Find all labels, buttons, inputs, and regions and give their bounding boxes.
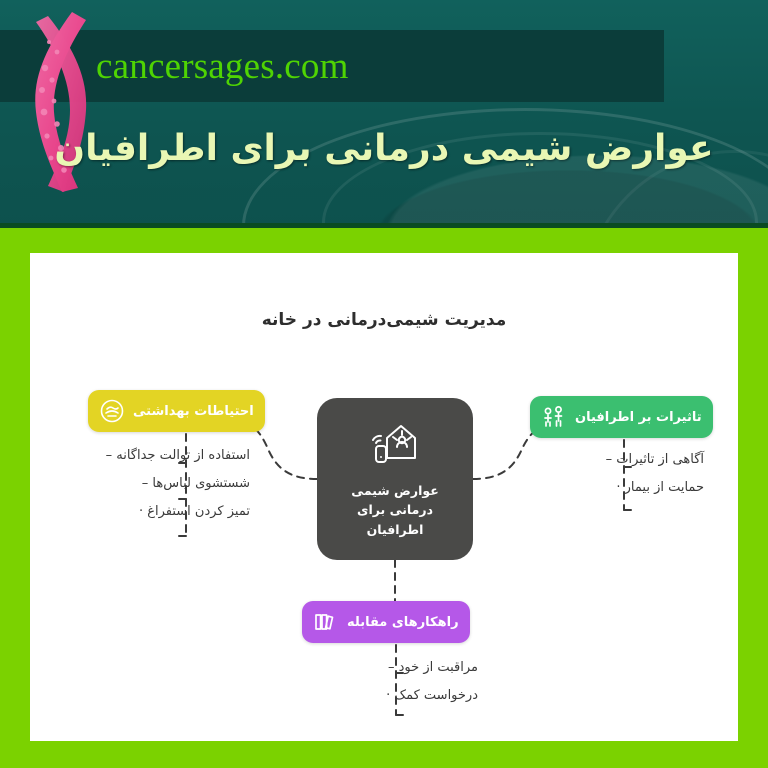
sublist-coping: مراقبت از خود – درخواست کمک · <box>298 661 478 717</box>
sublist-effects: آگاهی از تاثیرات – حمایت از بیمار · <box>524 453 704 509</box>
branch-label-hygiene: احتیاطات بهداشتی <box>133 404 254 419</box>
center-node-line-3: اطرافیان <box>351 520 438 539</box>
page-header: cancersages.com عوارض شیمی درمانی برا <box>0 0 768 228</box>
hygiene-wash-icon <box>99 398 125 424</box>
list-item: استفاده از توالت جداگانه – <box>54 449 250 462</box>
branch-label-effects: تاثیرات بر اطرافیان <box>575 410 702 425</box>
list-item: شستشوی لباس‌ها – <box>54 477 250 490</box>
branch-node-coping[interactable]: راهکارهای مقابله <box>302 601 470 643</box>
sublist-hygiene: استفاده از توالت جداگانه – شستشوی لباس‌ه… <box>54 449 250 533</box>
list-item: آگاهی از تاثیرات – <box>524 453 704 466</box>
list-item: تمیز کردن استفراغ · <box>54 505 250 518</box>
center-node-label: عوارض شیمی درمانی برای اطرافیان <box>351 481 438 539</box>
branch-node-effects[interactable]: تاثیرات بر اطرافیان <box>530 396 713 438</box>
diagram-card: مدیریت شیمی‌درمانی در خانه <box>30 253 738 741</box>
center-node-line-2: درمانی برای <box>351 500 438 519</box>
smart-home-icon <box>367 419 423 471</box>
family-people-icon <box>541 404 567 430</box>
site-name: cancersages.com <box>96 45 349 88</box>
list-item: درخواست کمک · <box>298 689 478 702</box>
branch-label-coping: راهکارهای مقابله <box>347 615 459 630</box>
diagram-title: مدیریت شیمی‌درمانی در خانه <box>30 310 738 330</box>
page-headline: عوارض شیمی درمانی برای اطرافیان <box>0 128 768 169</box>
branch-node-hygiene[interactable]: احتیاطات بهداشتی <box>88 390 265 432</box>
list-item: حمایت از بیمار · <box>524 481 704 494</box>
center-node[interactable]: عوارض شیمی درمانی برای اطرافیان <box>317 398 473 560</box>
infographic-page: cancersages.com عوارض شیمی درمانی برا <box>0 0 768 768</box>
books-shelf-icon <box>313 609 339 635</box>
list-item: مراقبت از خود – <box>298 661 478 674</box>
center-node-line-1: عوارض شیمی <box>351 481 438 500</box>
